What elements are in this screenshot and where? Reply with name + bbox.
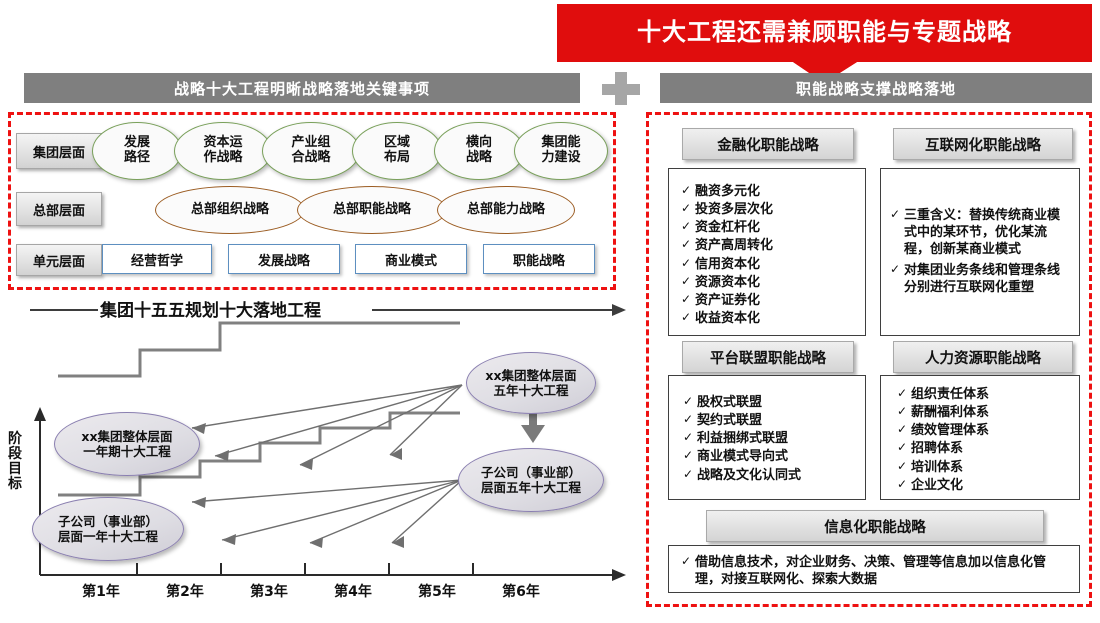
- list-item: ✓融资多元化: [681, 183, 855, 200]
- list-item: ✓信用资本化: [681, 256, 855, 273]
- card-header-informatization: 信息化职能战略: [706, 510, 1044, 542]
- card-header-internet: 互联网化职能战略: [893, 128, 1073, 160]
- card-body-finance: ✓融资多元化 ✓投资多层次化 ✓资金杠杆化 ✓资产高周转化 ✓信用资本化 ✓资源…: [668, 168, 866, 336]
- check-icon: ✓: [681, 310, 695, 326]
- check-icon: ✓: [681, 256, 695, 272]
- level-label-hq-text: 总部层面: [33, 200, 85, 219]
- level-label-hq: 总部层面: [16, 192, 102, 226]
- list-item: ✓商业模式导向式: [683, 448, 855, 465]
- x-tick-label-3: 第3年: [230, 581, 308, 601]
- x-tick-label-1: 第1年: [62, 581, 140, 601]
- list-item: ✓资产高周转化: [681, 237, 855, 254]
- list-item-text: 资金杠杆化: [695, 219, 855, 236]
- chart-node-sub-one-year[interactable]: 子公司（事业部） 层面一年十大工程: [32, 497, 184, 561]
- x-tick-label-5: 第5年: [398, 581, 476, 601]
- y-axis-label: 阶段目标: [4, 432, 26, 492]
- check-icon: ✓: [683, 430, 697, 446]
- list-item-text: 信用资本化: [695, 256, 855, 273]
- group-ellipse-6-label: 集团能 力建设: [541, 136, 580, 165]
- hq-ellipse-3[interactable]: 总部能力战略: [437, 186, 575, 234]
- card-header-internet-label: 互联网化职能战略: [925, 134, 1041, 155]
- hq-ellipse-1-label: 总部组织战略: [191, 203, 269, 217]
- check-icon: ✓: [681, 274, 695, 290]
- unit-box-2[interactable]: 发展战略: [228, 244, 340, 274]
- list-item-text: 绩效管理体系: [911, 422, 1069, 439]
- check-icon: ✓: [897, 404, 911, 420]
- check-icon: ✓: [683, 394, 697, 410]
- banner-title: 十大工程还需兼顾职能与专题战略: [637, 20, 1012, 47]
- check-icon: ✓: [681, 292, 695, 308]
- list-item: ✓收益资本化: [681, 310, 855, 327]
- list-item-text: 融资多元化: [695, 183, 855, 200]
- list-item-text: 战略及文化认同式: [697, 467, 855, 484]
- x-tick-label-4: 第4年: [314, 581, 392, 601]
- check-icon: ✓: [681, 554, 695, 570]
- list-item-text: 契约式联盟: [697, 412, 855, 429]
- unit-box-1-label: 经营哲学: [131, 250, 183, 269]
- chart-node-sub-five-year[interactable]: 子公司（事业部） 层面五年十大工程: [458, 448, 604, 512]
- check-icon: ✓: [897, 459, 911, 475]
- right-section-header: 职能战略支撑战略落地: [660, 73, 1092, 103]
- level-label-unit-text: 单元层面: [33, 251, 85, 270]
- level-label-group-text: 集团层面: [33, 142, 85, 161]
- list-item: ✓招聘体系: [897, 440, 1069, 457]
- chart-node-sub-one-year-label: 子公司（事业部） 层面一年十大工程: [58, 514, 158, 544]
- level-label-unit: 单元层面: [16, 244, 102, 276]
- left-section-header: 战略十大工程明晰战略落地关键事项: [24, 73, 580, 103]
- list-item: ✓对集团业务条线和管理条线分别进行互联网化重塑: [890, 262, 1069, 296]
- check-icon: ✓: [890, 207, 904, 223]
- list-item-text: 投资多层次化: [695, 201, 855, 218]
- unit-box-2-label: 发展战略: [258, 250, 310, 269]
- hq-ellipse-3-label: 总部能力战略: [467, 203, 545, 217]
- list-item-text: 三重含义：替换传统商业模式中的某环节，优化某流程，创新某商业模式: [904, 207, 1069, 258]
- card-header-finance-label: 金融化职能战略: [717, 134, 819, 155]
- check-icon: ✓: [683, 412, 697, 428]
- card-header-platform: 平台联盟职能战略: [682, 341, 854, 373]
- unit-box-3[interactable]: 商业模式: [355, 244, 467, 274]
- group-ellipse-4-label: 区域 布局: [384, 136, 410, 165]
- list-item: ✓契约式联盟: [683, 412, 855, 429]
- list-item: ✓投资多层次化: [681, 201, 855, 218]
- check-icon: ✓: [897, 422, 911, 438]
- list-item: ✓借助信息技术，对企业财务、决策、管理等信息加以信息化管理，对接互联网化、探索大…: [681, 554, 1069, 588]
- list-item: ✓三重含义：替换传统商业模式中的某环节，优化某流程，创新某商业模式: [890, 207, 1069, 258]
- right-section-header-label: 职能战略支撑战略落地: [796, 78, 956, 99]
- list-item: ✓资金杠杆化: [681, 219, 855, 236]
- check-icon: ✓: [683, 448, 697, 464]
- check-icon: ✓: [897, 386, 911, 402]
- check-icon: ✓: [681, 201, 695, 217]
- list-item-text: 组织责任体系: [911, 386, 1069, 403]
- red-title-banner: 十大工程还需兼顾职能与专题战略: [557, 4, 1092, 62]
- list-item-text: 薪酬福利体系: [911, 404, 1069, 421]
- card-header-hr-label: 人力资源职能战略: [925, 347, 1041, 368]
- hq-ellipse-2[interactable]: 总部职能战略: [297, 186, 447, 234]
- group-ellipse-3[interactable]: 产业组 合战略: [262, 122, 360, 180]
- check-icon: ✓: [897, 477, 911, 493]
- card-header-finance: 金融化职能战略: [682, 128, 854, 160]
- unit-box-1[interactable]: 经营哲学: [102, 244, 212, 274]
- list-item: ✓培训体系: [897, 459, 1069, 476]
- x-tick-label-2: 第2年: [146, 581, 224, 601]
- group-ellipse-1[interactable]: 发展 路径: [92, 122, 182, 180]
- check-icon: ✓: [683, 467, 697, 483]
- list-item-text: 培训体系: [911, 459, 1069, 476]
- group-ellipse-5[interactable]: 横向 战略: [434, 122, 524, 180]
- list-item-text: 商业模式导向式: [697, 448, 855, 465]
- list-item: ✓资源资本化: [681, 274, 855, 291]
- list-item: ✓企业文化: [897, 477, 1069, 494]
- list-item: ✓组织责任体系: [897, 386, 1069, 403]
- group-ellipse-6[interactable]: 集团能 力建设: [514, 122, 608, 180]
- group-ellipse-5-label: 横向 战略: [466, 136, 492, 165]
- list-item-text: 收益资本化: [695, 310, 855, 327]
- group-ellipse-4[interactable]: 区域 布局: [352, 122, 442, 180]
- group-ellipse-2-label: 资本运 作战略: [203, 136, 242, 165]
- group-ellipse-3-label: 产业组 合战略: [291, 136, 330, 165]
- group-ellipse-2[interactable]: 资本运 作战略: [174, 122, 272, 180]
- card-header-platform-label: 平台联盟职能战略: [710, 347, 826, 368]
- check-icon: ✓: [681, 183, 695, 199]
- left-section-header-label: 战略十大工程明晰战略落地关键事项: [174, 78, 430, 99]
- card-header-hr: 人力资源职能战略: [893, 341, 1073, 373]
- list-item: ✓绩效管理体系: [897, 422, 1069, 439]
- list-item: ✓利益捆绑式联盟: [683, 430, 855, 447]
- list-item: ✓战略及文化认同式: [683, 467, 855, 484]
- card-body-internet: ✓三重含义：替换传统商业模式中的某环节，优化某流程，创新某商业模式 ✓对集团业务…: [880, 168, 1080, 336]
- check-icon: ✓: [681, 237, 695, 253]
- check-icon: ✓: [681, 219, 695, 235]
- list-item-text: 股权式联盟: [697, 394, 855, 411]
- list-item-text: 对集团业务条线和管理条线分别进行互联网化重塑: [904, 262, 1069, 296]
- list-item: ✓薪酬福利体系: [897, 404, 1069, 421]
- x-tick-label-6: 第6年: [482, 581, 560, 601]
- list-item-text: 借助信息技术，对企业财务、决策、管理等信息加以信息化管理，对接互联网化、探索大数…: [695, 554, 1069, 588]
- list-item-text: 资产证券化: [695, 292, 855, 309]
- plus-icon: [590, 70, 652, 106]
- list-item: ✓股权式联盟: [683, 394, 855, 411]
- card-body-platform: ✓股权式联盟 ✓契约式联盟 ✓利益捆绑式联盟 ✓商业模式导向式 ✓战略及文化认同…: [668, 375, 866, 500]
- unit-box-3-label: 商业模式: [385, 250, 437, 269]
- chart-node-group-one-year-label: xx集团整体层面 一年期十大工程: [81, 429, 172, 459]
- check-icon: ✓: [897, 440, 911, 456]
- list-item-text: 招聘体系: [911, 440, 1069, 457]
- chart-node-group-five-year[interactable]: xx集团整体层面 五年十大工程: [466, 352, 596, 414]
- list-item-text: 利益捆绑式联盟: [697, 430, 855, 447]
- card-body-informatization: ✓借助信息技术，对企业财务、决策、管理等信息加以信息化管理，对接互联网化、探索大…: [668, 545, 1080, 593]
- unit-box-4[interactable]: 职能战略: [483, 244, 595, 274]
- unit-box-4-label: 职能战略: [513, 250, 565, 269]
- group-ellipse-1-label: 发展 路径: [124, 136, 150, 165]
- list-item-text: 资源资本化: [695, 274, 855, 291]
- list-item-text: 企业文化: [911, 477, 1069, 494]
- hq-ellipse-1[interactable]: 总部组织战略: [155, 186, 305, 234]
- chart-node-group-five-year-label: xx集团整体层面 五年十大工程: [485, 368, 576, 398]
- hq-ellipse-2-label: 总部职能战略: [333, 203, 411, 217]
- list-item: ✓资产证券化: [681, 292, 855, 309]
- chart-node-group-one-year[interactable]: xx集团整体层面 一年期十大工程: [54, 412, 200, 476]
- level-label-group: 集团层面: [16, 133, 102, 169]
- card-body-hr: ✓组织责任体系 ✓薪酬福利体系 ✓绩效管理体系 ✓招聘体系 ✓培训体系 ✓企业文…: [880, 375, 1080, 500]
- chart-node-sub-five-year-label: 子公司（事业部） 层面五年十大工程: [481, 465, 581, 495]
- check-icon: ✓: [890, 262, 904, 278]
- list-item-text: 资产高周转化: [695, 237, 855, 254]
- card-header-informatization-label: 信息化职能战略: [824, 516, 926, 537]
